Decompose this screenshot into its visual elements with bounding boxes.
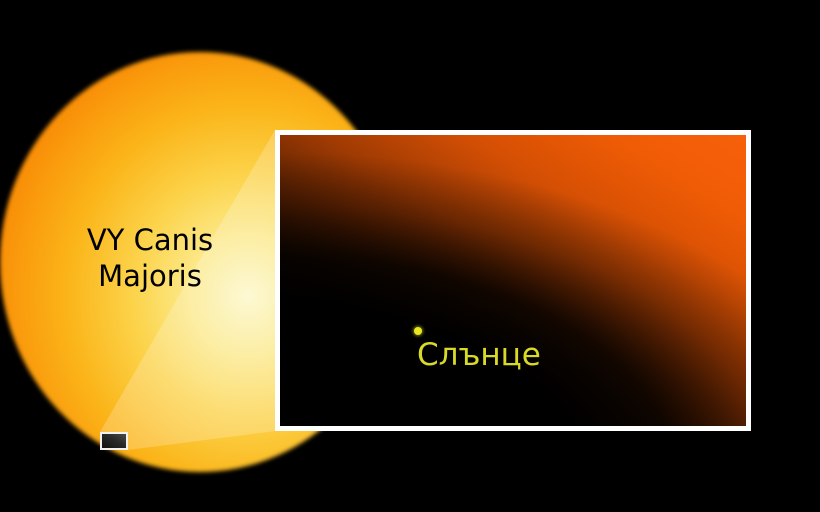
inset-source-rectangle <box>100 432 128 450</box>
magnified-inset-box <box>275 130 751 431</box>
star-label: VY Canis Majoris <box>0 222 300 294</box>
star-size-comparison-scene: VY Canis Majoris Слънце <box>0 0 820 512</box>
sun-dot <box>414 327 422 335</box>
sun-label: Слънце <box>417 336 541 374</box>
inset-space-shadow <box>280 135 746 426</box>
